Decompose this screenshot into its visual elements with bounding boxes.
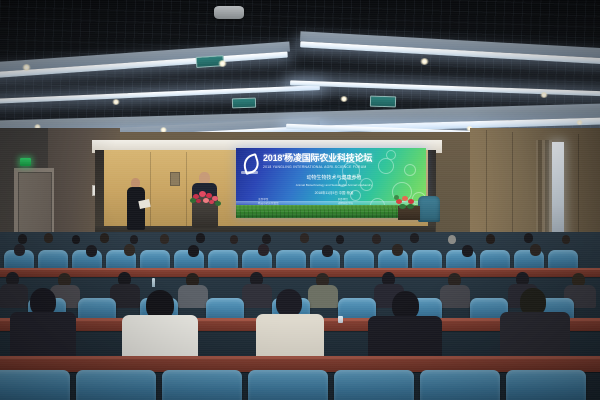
- audience-desk-front-edge: [0, 356, 600, 359]
- podium-flower-arrangement: [190, 190, 222, 206]
- seat-row-c: [0, 288, 600, 358]
- attendee-head: [196, 233, 205, 243]
- forum-logo-icon: [241, 155, 258, 174]
- auditorium-seat[interactable]: [248, 370, 328, 400]
- ceiling-spotlight-11: [576, 120, 583, 125]
- attendee-head: [562, 235, 570, 244]
- auditorium-seat[interactable]: [344, 250, 374, 270]
- attendee-head: [160, 234, 169, 244]
- auditorium-seat[interactable]: [506, 370, 586, 400]
- attendee-head: [18, 234, 27, 244]
- attendee-torso: [368, 316, 442, 360]
- auditorium-seat[interactable]: [276, 250, 306, 270]
- attendee-head: [486, 234, 495, 244]
- attendee-head: [44, 233, 53, 243]
- stage-panel-line-2: [186, 152, 187, 228]
- attendee-head: [14, 244, 25, 256]
- seat-row-front: [0, 364, 600, 400]
- auditorium-seat[interactable]: [334, 370, 414, 400]
- wall-plaque-stage: [170, 172, 180, 186]
- screen-subtitle-cn: 动物生物技术与健康养殖: [274, 174, 394, 182]
- screen-date-line: 2018年11月5日 中国·杨凌: [276, 190, 392, 196]
- seat-row-a: [0, 244, 600, 270]
- stage-wall-stripe-left: [95, 150, 104, 232]
- attendee-head: [372, 234, 381, 244]
- auditorium-seat[interactable]: [548, 250, 578, 270]
- ceiling-spotlight-1: [22, 64, 31, 71]
- auditorium-seat[interactable]: [208, 250, 238, 270]
- attendee-head: [300, 233, 309, 243]
- attendee-head: [322, 245, 333, 257]
- attendee-torso: [122, 315, 198, 360]
- auditorium-seat[interactable]: [140, 250, 170, 270]
- auditorium-seat[interactable]: [480, 250, 510, 270]
- host-figure: [126, 178, 146, 230]
- attendee-torso: [10, 312, 76, 360]
- screen-title-cn: 2018'杨凌国际农业科技论坛: [263, 153, 413, 164]
- attendee-head: [230, 235, 238, 244]
- right-window-glow: [552, 142, 564, 246]
- ceiling-spotlight-3: [420, 58, 429, 65]
- attendee-head: [276, 289, 302, 317]
- auditorium-seat[interactable]: [38, 250, 68, 270]
- ceiling-projector: [214, 6, 244, 19]
- auditorium-seat[interactable]: [412, 250, 442, 270]
- drinking-cup[interactable]: [338, 316, 343, 323]
- attendee-head: [462, 245, 473, 257]
- side-flower-arrangement: [394, 194, 420, 210]
- screen-subtitle-en: Animal Biotechnology and Sustainable Ani…: [266, 182, 402, 188]
- attendee-head: [100, 233, 109, 243]
- attendee-head: [410, 233, 419, 243]
- attendee-torso: [500, 312, 570, 360]
- exit-sign-icon: [20, 158, 31, 166]
- auditorium-photo: 2018'杨凌国际农业科技论坛 2018 YANGLING INTERNATIO…: [0, 0, 600, 400]
- auditorium-seat[interactable]: [420, 370, 500, 400]
- screen-title-en: 2018 YANGLING INTERNATIONAL AGRI-SCIENCE…: [263, 164, 415, 170]
- auditorium-seat[interactable]: [162, 370, 242, 400]
- attendee-head: [530, 244, 541, 256]
- air-vent-right: [370, 96, 396, 108]
- attendee-head: [124, 244, 135, 256]
- water-bottle[interactable]: [152, 278, 155, 287]
- attendee-head: [86, 245, 97, 257]
- attendee-head: [258, 244, 269, 256]
- stage-panel-line-1: [150, 152, 151, 228]
- ceiling-spotlight-5: [340, 96, 348, 102]
- ceiling-spotlight-4: [112, 99, 120, 105]
- audience-area: [0, 232, 600, 400]
- attendee-head: [188, 245, 199, 257]
- attendee-head: [72, 235, 80, 244]
- attendee-head: [262, 234, 271, 244]
- attendee-head: [336, 235, 344, 244]
- attendee-head: [392, 244, 403, 256]
- guest-chair: [418, 196, 440, 222]
- ceiling-spotlight-2: [218, 60, 227, 67]
- air-vent-center: [232, 98, 256, 109]
- attendee-head: [448, 235, 456, 244]
- ceiling-spotlight-6: [540, 92, 548, 98]
- attendee-head: [130, 235, 138, 244]
- audience-desk-edge: [0, 268, 600, 270]
- auditorium-seat[interactable]: [76, 370, 156, 400]
- attendee-torso: [256, 314, 324, 360]
- attendee-head: [524, 233, 533, 243]
- auditorium-seat[interactable]: [0, 370, 70, 400]
